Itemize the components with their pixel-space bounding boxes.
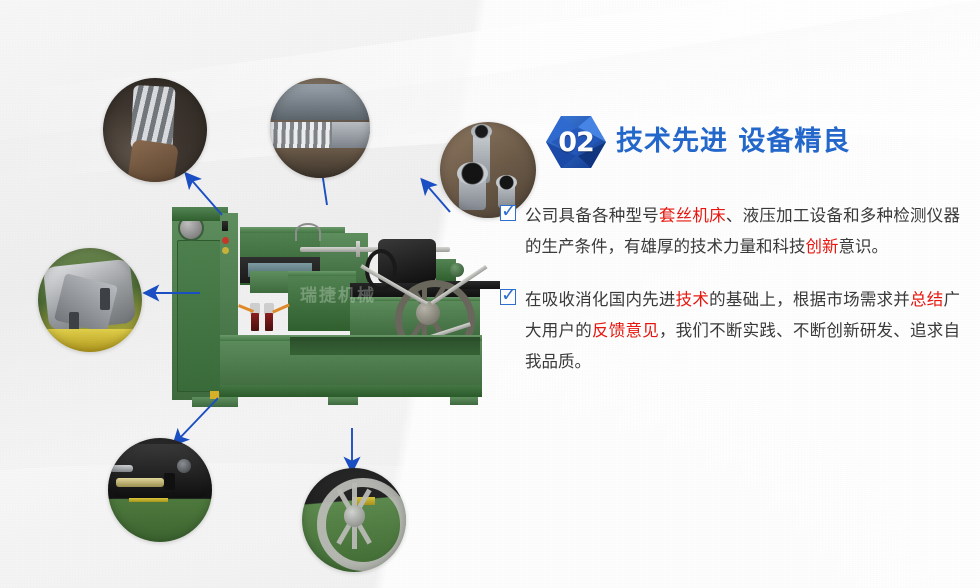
callout-handwheel-closeup	[302, 468, 406, 572]
checkbox-checked-icon: ✓	[500, 205, 516, 221]
section-number-text: 02	[545, 114, 607, 170]
callout-threaded-bar-closeup	[270, 78, 370, 178]
feature-bullet-1: ✓ 公司具备各种型号套丝机床、液压加工设备和多种检测仪器的生产条件，有雄厚的技术…	[500, 200, 960, 262]
callout-cutting-head-closeup	[38, 248, 142, 352]
feature-bullet-list: ✓ 公司具备各种型号套丝机床、液压加工设备和多种检测仪器的生产条件，有雄厚的技术…	[500, 200, 960, 399]
content-panel: 02 技术先进 设备精良 ✓ 公司具备各种型号套丝机床、液压加工设备和多种检测仪…	[540, 108, 960, 172]
callout-hydraulic-valve-closeup	[108, 438, 212, 542]
checkbox-checked-icon: ✓	[500, 289, 516, 305]
feature-bullet-2: ✓ 在吸收消化国内先进技术的基础上，根据市场需求并总结广大用户的反馈意见，我们不…	[500, 284, 960, 377]
callout-thread-rod-closeup	[103, 78, 207, 182]
feature-bullet-2-text: 在吸收消化国内先进技术的基础上，根据市场需求并总结广大用户的反馈意见，我们不断实…	[525, 284, 960, 377]
section-header: 02 技术先进 设备精良	[540, 108, 960, 172]
photo-watermark: 瑞捷机械	[278, 281, 398, 306]
product-photo-thread-rolling-machine: 瑞捷机械	[150, 185, 500, 420]
feature-bullet-1-text: 公司具备各种型号套丝机床、液压加工设备和多种检测仪器的生产条件，有雄厚的技术力量…	[525, 200, 960, 262]
section-title: 技术先进 设备精良	[616, 119, 850, 158]
section-number-badge: 02	[545, 114, 607, 170]
promo-banner: 瑞捷机械	[0, 0, 980, 588]
